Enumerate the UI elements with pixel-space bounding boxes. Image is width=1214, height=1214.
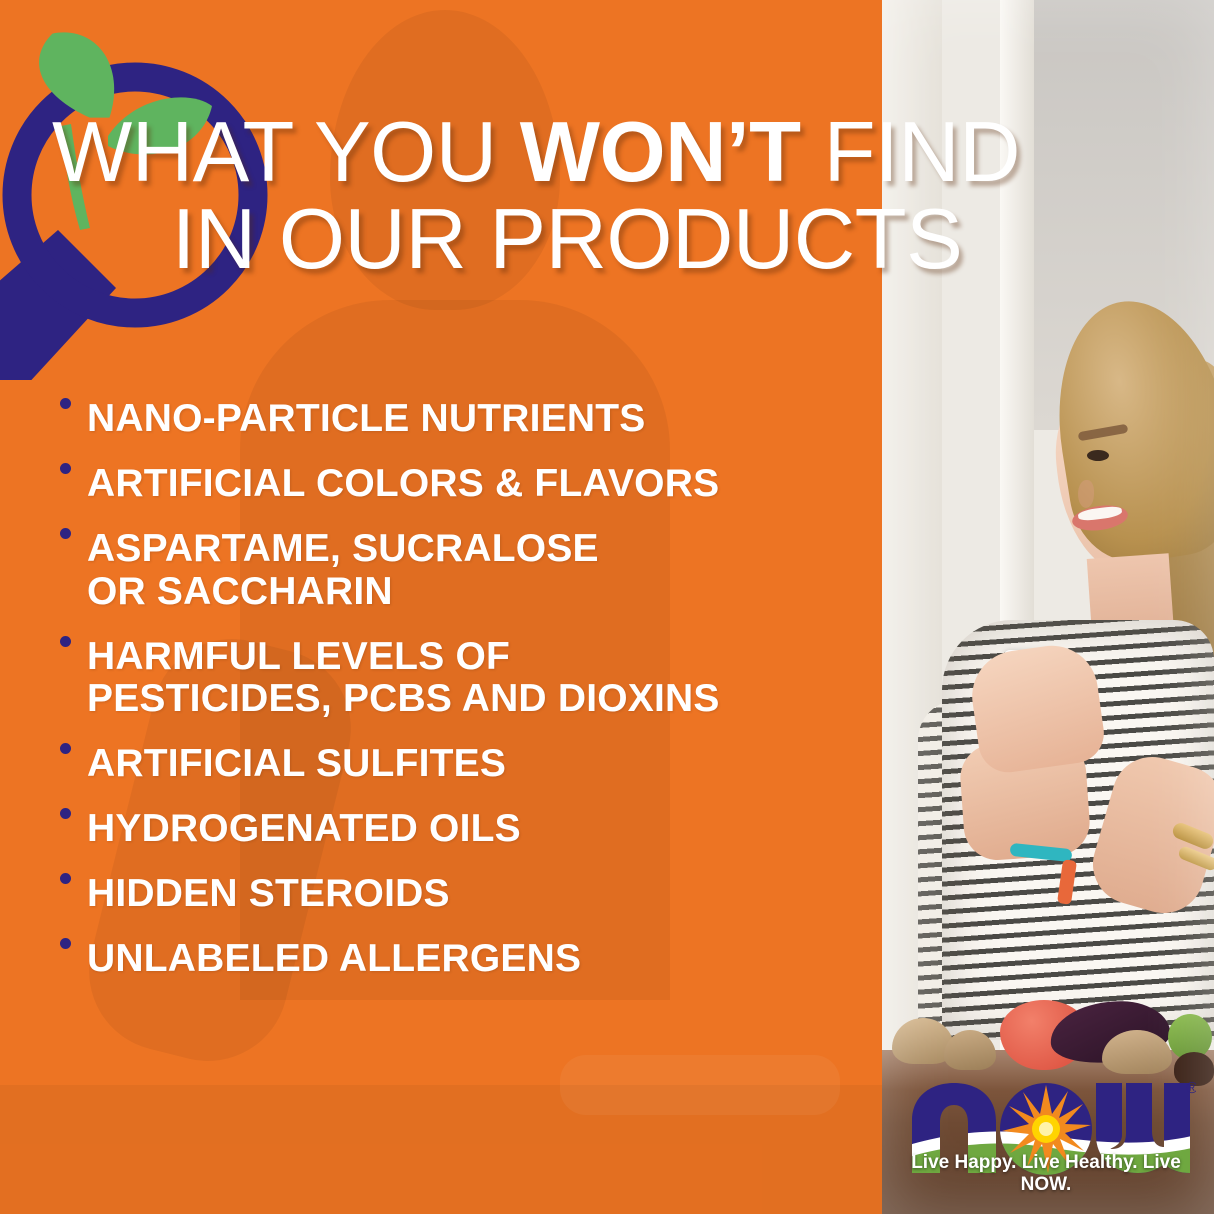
promo-graphic: WHAT YOU WON’T FIND IN OUR PRODUCTS NANO… [0,0,1214,1214]
list-item-label: ARTIFICIAL SULFITES [87,743,506,786]
list-item-label: UNLABELED ALLERGENS [87,938,581,981]
list-item: ASPARTAME, SUCRALOSE OR SACCHARIN [60,528,870,614]
list-item: ARTIFICIAL COLORS & FLAVORS [60,463,870,506]
list-item-label: HIDDEN STEROIDS [87,873,450,916]
list-item-label: HARMFUL LEVELS OF PESTICIDES, PCBS AND D… [87,636,720,722]
list-item: HIDDEN STEROIDS [60,873,870,916]
bullet-dot-icon [60,463,71,474]
bullet-dot-icon [60,528,71,539]
headline-line1-before: WHAT YOU [52,105,520,200]
brand-tagline: Live Happy. Live Healthy. Live NOW. [896,1152,1196,1196]
list-item: ARTIFICIAL SULFITES [60,743,870,786]
list-item: NANO-PARTICLE NUTRIENTS [60,398,870,441]
bullet-dot-icon [60,743,71,754]
excluded-ingredients-list: NANO-PARTICLE NUTRIENTS ARTIFICIAL COLOR… [60,398,870,981]
bullet-dot-icon [60,808,71,819]
list-item-label: ASPARTAME, SUCRALOSE OR SACCHARIN [87,528,599,614]
bullet-dot-icon [60,398,71,409]
list-item: HARMFUL LEVELS OF PESTICIDES, PCBS AND D… [60,636,870,722]
list-item: HYDROGENATED OILS [60,808,870,851]
list-item-label: NANO-PARTICLE NUTRIENTS [87,398,646,441]
bullet-dot-icon [60,873,71,884]
page-title: WHAT YOU WON’T FIND IN OUR PRODUCTS [52,112,1192,282]
bullet-dot-icon [60,938,71,949]
headline-line1-after: FIND [801,105,1020,200]
list-item-label: HYDROGENATED OILS [87,808,521,851]
registered-trademark: ® [1186,1080,1196,1097]
headline-emphasis: WON’T [520,105,801,200]
list-item-label: ARTIFICIAL COLORS & FLAVORS [87,463,719,506]
bullet-dot-icon [60,636,71,647]
headline-line2: IN OUR PRODUCTS [52,199,1082,281]
ghost-bowl [560,1055,840,1115]
list-item: UNLABELED ALLERGENS [60,938,870,981]
